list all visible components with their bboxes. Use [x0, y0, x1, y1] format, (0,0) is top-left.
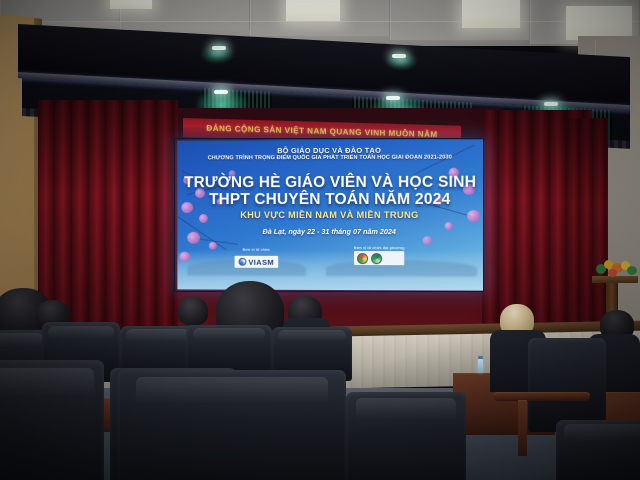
downlight-4 [386, 96, 400, 100]
slide-date-line: Đà Lạt, ngày 22 - 31 tháng 07 năm 2024 [177, 227, 483, 236]
local-org-logo-b-icon [371, 253, 382, 264]
blossom-15 [422, 236, 432, 245]
slide-title-line-1: TRƯỜNG HÈ GIÁO VIÊN VÀ HỌC SINH [177, 174, 483, 193]
flower-vase [592, 258, 640, 280]
stage-curtain-far-right [566, 118, 608, 333]
chair-front-far-right [556, 420, 640, 480]
water-bottle [478, 359, 483, 373]
blossom-7 [179, 252, 190, 262]
attendee-left-second-head [178, 297, 208, 325]
viasm-logo-text: VIASM [248, 257, 274, 266]
chair-right-arm [494, 392, 590, 401]
slide-program-line: CHƯƠNG TRÌNH TRỌNG ĐIỂM QUỐC GIA PHÁT TR… [177, 154, 483, 161]
chair-front-center-big [118, 370, 346, 480]
organizer-block: Đơn vị tổ chức VIASM [235, 248, 278, 271]
photo-scene: ĐẢNG CỘNG SẢN VIỆT NAM QUANG VINH MUÔN N… [0, 0, 640, 480]
chair-right-armchair [528, 338, 606, 432]
ceiling-light-3 [462, 0, 520, 28]
ceiling-light-1 [110, 0, 152, 9]
chair-front-right [346, 392, 466, 480]
local-organizer-block: Đơn vị tổ chức địa phương [354, 246, 405, 265]
water-bottle-cap [478, 356, 483, 359]
chair-front-left [0, 360, 104, 480]
ceiling-light-4 [566, 6, 632, 40]
downlight-1 [212, 46, 226, 50]
downlight-3 [214, 90, 228, 94]
slide-region-line: KHU VỰC MIỀN NAM VÀ MIỀN TRUNG [177, 210, 483, 220]
slide-title-line-2: THPT CHUYÊN TOÁN NĂM 2024 [177, 191, 483, 209]
viasm-logo: VIASM [235, 256, 278, 268]
downlight-2 [392, 54, 406, 58]
local-organizer-caption: Đơn vị tổ chức địa phương [354, 246, 405, 250]
local-organizer-logos [354, 251, 405, 265]
organizer-caption: Đơn vị tổ chức [235, 248, 278, 252]
chair-right-leg [518, 400, 527, 456]
slogan-text: ĐẢNG CỘNG SẢN VIỆT NAM QUANG VINH MUÔN N… [206, 124, 437, 139]
local-org-logo-a-icon [357, 253, 368, 264]
led-presentation-screen: BỘ GIÁO DỤC VÀ ĐÀO TẠO CHƯƠNG TRÌNH TRỌN… [177, 139, 483, 290]
viasm-circle-icon [239, 258, 247, 266]
ceiling-light-2 [286, 0, 340, 21]
blossom-6 [209, 242, 217, 250]
downlight-5 [544, 102, 558, 106]
